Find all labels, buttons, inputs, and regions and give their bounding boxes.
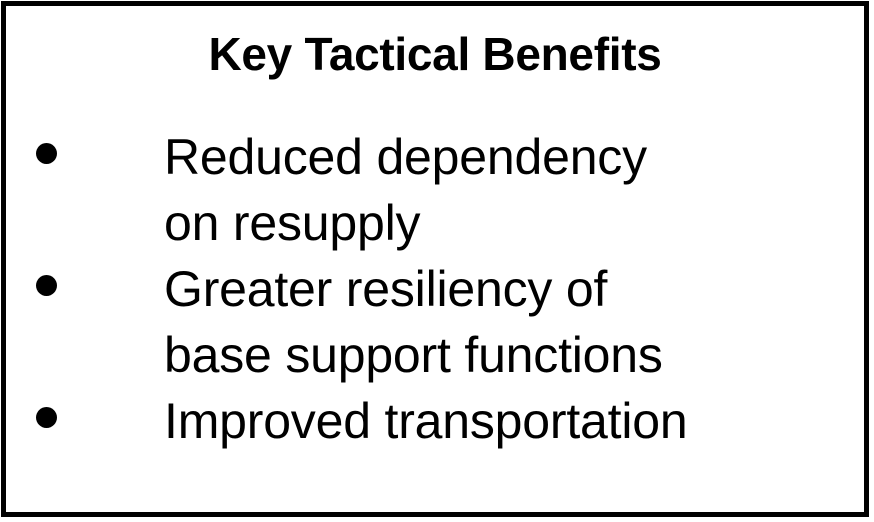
page-title: Key Tactical Benefits	[6, 28, 864, 80]
list-item: Reduced dependency on resupply	[6, 124, 864, 256]
list-item: Greater resiliency of base support funct…	[6, 256, 864, 388]
bullet-dot-icon	[36, 407, 57, 428]
list-item-label: Improved transportation	[164, 388, 694, 454]
list-item-label: Reduced dependency on resupply	[164, 124, 694, 256]
list-item: Improved transportation	[6, 388, 864, 454]
slide-text-box: Key Tactical Benefits Reduced dependency…	[1, 1, 869, 517]
bullet-dot-icon	[36, 275, 57, 296]
benefits-bullet-list: Reduced dependency on resupply Greater r…	[6, 124, 864, 454]
bullet-dot-icon	[36, 143, 57, 164]
list-item-label: Greater resiliency of base support funct…	[164, 256, 694, 388]
